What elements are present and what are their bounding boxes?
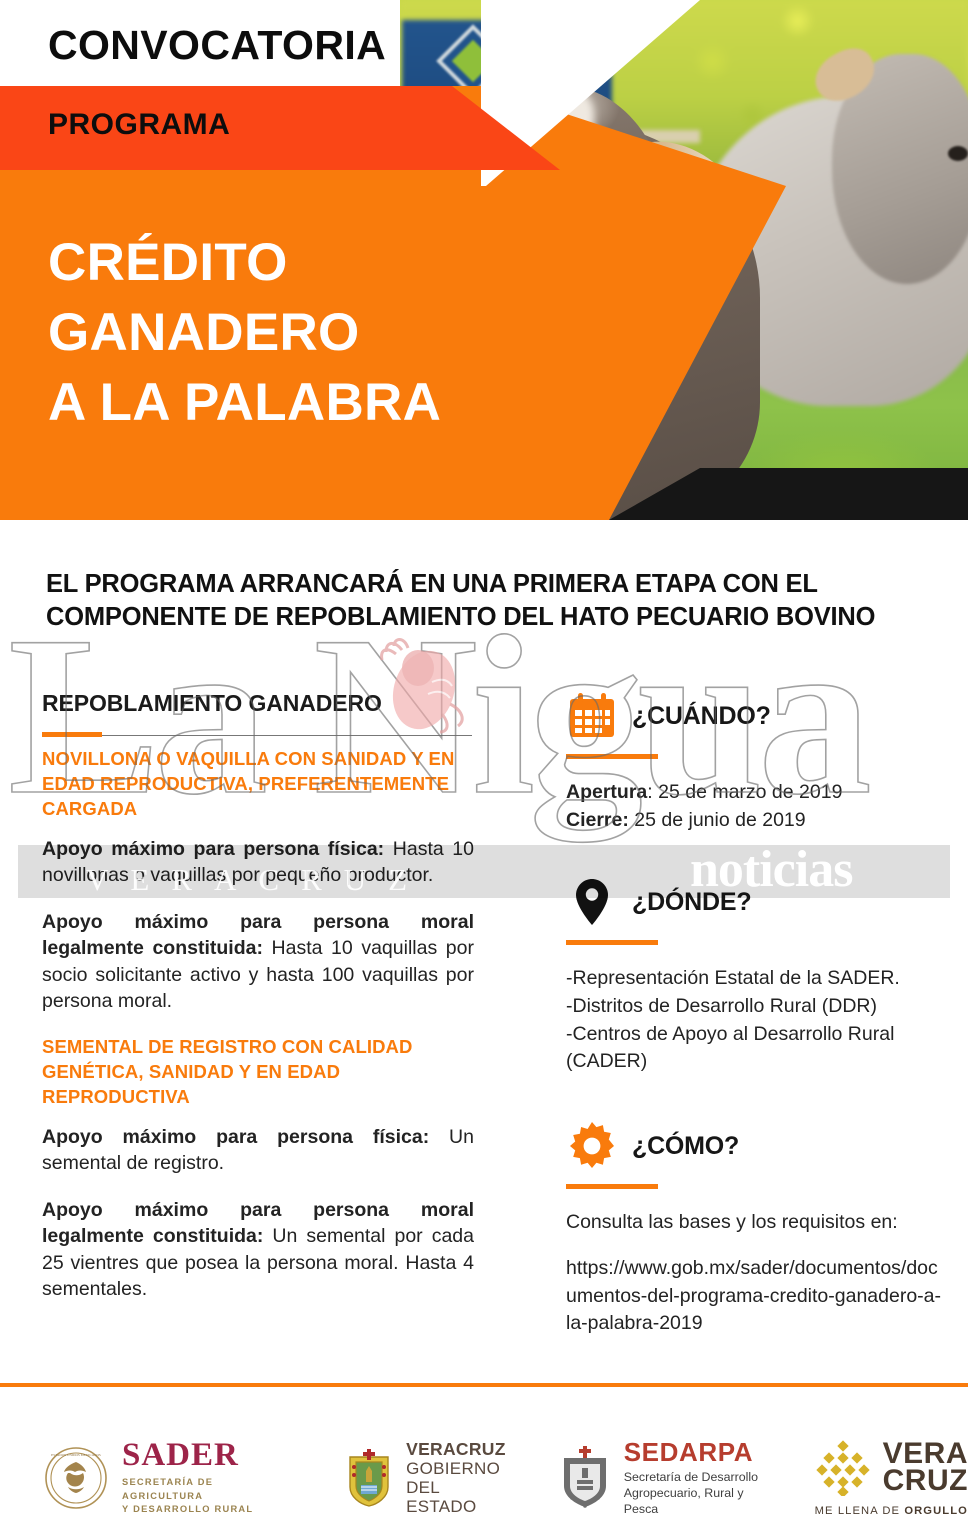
footer-logos: ESTADOS UNIDOS MEXICANOS SADER SECRETARÍ… xyxy=(0,1420,968,1536)
section-como-header: ¿CÓMO? xyxy=(566,1120,944,1172)
divider-accent xyxy=(42,732,102,737)
location-pin-icon xyxy=(566,876,618,928)
divider-line xyxy=(42,735,472,736)
section-como-body: Consulta las bases y los requisitos en: … xyxy=(566,1184,944,1338)
veracruz-gobierno-line-3: DEL ESTADO xyxy=(406,1478,506,1516)
sedarpa-text: SEDARPA Secretaría de Desarrollo Agropec… xyxy=(624,1439,767,1517)
veracruz-gobierno-logo: VERACRUZ GOBIERNO DEL ESTADO xyxy=(343,1440,506,1517)
paragraph-label: Apoyo máximo para persona física: xyxy=(42,838,384,860)
hero-title: CRÉDITO GANADERO A LA PALABRA xyxy=(48,228,441,438)
tagline-light: ME LLENA DE xyxy=(815,1505,905,1517)
paragraph-moral-novillona: Apoyo máximo para persona moral legalmen… xyxy=(42,909,474,1015)
sader-logo: ESTADOS UNIDOS MEXICANOS SADER SECRETARÍ… xyxy=(44,1439,281,1516)
veracruz-gobierno-line-2: GOBIERNO xyxy=(406,1459,506,1478)
section-como: ¿CÓMO? Consulta las bases y los requisit… xyxy=(566,1120,944,1338)
section-donde-title: ¿DÓNDE? xyxy=(632,888,751,917)
apertura-label: Apertura xyxy=(566,781,647,803)
sedarpa-shield-icon xyxy=(558,1446,612,1510)
second-cow-eye xyxy=(948,146,968,161)
right-column: ¿CUÁNDO? Apertura: 25 de marzo de 2019 C… xyxy=(566,690,944,1364)
sader-subtitle-line-1: SECRETARÍA DE AGRICULTURA xyxy=(122,1476,281,1503)
section-donde: ¿DÓNDE? -Representación Estatal de la SA… xyxy=(566,876,944,1076)
veracruz-orgullo-wordmark: VERA CRUZ xyxy=(883,1441,968,1494)
sader-text: SADER SECRETARÍA DE AGRICULTURA Y DESARR… xyxy=(122,1439,281,1516)
como-intro: Consulta las bases y los requisitos en: xyxy=(566,1209,944,1237)
sader-subtitle: SECRETARÍA DE AGRICULTURA Y DESARROLLO R… xyxy=(122,1476,281,1516)
gear-icon xyxy=(566,1120,618,1172)
sedarpa-subtitle-line-2: Agropecuario, Rural y Pesca xyxy=(624,1485,767,1517)
hero-title-line-3: A LA PALABRA xyxy=(48,368,441,438)
donde-item-2: -Distritos de Desarrollo Rural (DDR) xyxy=(566,993,944,1021)
footer-divider xyxy=(0,1383,968,1387)
hero-title-line-2: GANADERO xyxy=(48,298,441,368)
veracruz-orgullo-word-2: CRUZ xyxy=(883,1468,968,1494)
lead-paragraph: EL PROGRAMA ARRANCARÁ EN UNA PRIMERA ETA… xyxy=(46,568,936,634)
paragraph-fisica-semental: Apoyo máximo para persona física: Un sem… xyxy=(42,1124,474,1177)
veracruz-gobierno-line-1: VERACRUZ xyxy=(406,1440,506,1460)
veracruz-orgullo-tagline: ME LLENA DE ORGULLO xyxy=(815,1505,968,1517)
subheading-novillona: NOVILLONA O VAQUILLA CON SANIDAD Y EN ED… xyxy=(42,747,474,822)
cierre-value: 25 de junio de 2019 xyxy=(629,809,806,831)
left-column: REPOBLAMIENTO GANADERO NOVILLONA O VAQUI… xyxy=(42,690,474,1323)
section-cuando-body: Apertura: 25 de marzo de 2019 Cierre: 25… xyxy=(566,754,944,834)
sedarpa-subtitle-line-1: Secretaría de Desarrollo xyxy=(624,1469,767,1485)
tagline-bold: ORGULLO xyxy=(904,1505,968,1517)
apertura-value: : 25 de marzo de 2019 xyxy=(647,781,842,803)
sedarpa-logo: SEDARPA Secretaría de Desarrollo Agropec… xyxy=(558,1439,767,1517)
subheading-semental: SEMENTAL DE REGISTRO CON CALIDAD GENÉTIC… xyxy=(42,1035,474,1110)
convocatoria-heading: CONVOCATORIA xyxy=(48,22,386,69)
veracruz-coat-of-arms-icon xyxy=(343,1447,395,1509)
como-url[interactable]: https://www.gob.mx/sader/documentos/docu… xyxy=(566,1255,944,1338)
sedarpa-subtitle: Secretaría de Desarrollo Agropecuario, R… xyxy=(624,1469,767,1517)
hero-banner: PROGRAMA CONVOCATORIA CRÉDITO GANADERO A… xyxy=(0,0,968,550)
veracruz-orgullo-mark: VERA CRUZ xyxy=(815,1440,968,1496)
section-divider xyxy=(42,729,474,747)
sader-subtitle-line-2: Y DESARROLLO RURAL xyxy=(122,1503,281,1516)
section-donde-body: -Representación Estatal de la SADER. -Di… xyxy=(566,940,944,1076)
diamond-pattern-icon xyxy=(815,1440,871,1496)
section-cuando-header: ¿CUÁNDO? xyxy=(566,690,944,742)
hero-title-line-1: CRÉDITO xyxy=(48,228,441,298)
programa-label: PROGRAMA xyxy=(48,108,230,142)
section-title-repoblamiento: REPOBLAMIENTO GANADERO xyxy=(42,690,474,717)
section-como-title: ¿CÓMO? xyxy=(632,1132,739,1161)
section-cuando-title: ¿CUÁNDO? xyxy=(632,702,771,731)
sedarpa-name: SEDARPA xyxy=(624,1439,767,1465)
paragraph-fisica-novillona: Apoyo máximo para persona física: Hasta … xyxy=(42,836,474,889)
cierre-line: Cierre: 25 de junio de 2019 xyxy=(566,807,944,835)
accent-rule xyxy=(566,940,658,945)
donde-item-1: -Representación Estatal de la SADER. xyxy=(566,965,944,993)
paragraph-label: Apoyo máximo para persona física: xyxy=(42,1126,429,1148)
calendar-icon xyxy=(566,690,618,742)
section-cuando: ¿CUÁNDO? Apertura: 25 de marzo de 2019 C… xyxy=(566,690,944,834)
donde-item-3: -Centros de Apoyo al Desarrollo Rural (C… xyxy=(566,1021,944,1076)
accent-rule xyxy=(566,754,658,759)
paragraph-moral-semental: Apoyo máximo para persona moral legalmen… xyxy=(42,1197,474,1303)
svg-text:ESTADOS UNIDOS MEXICANOS: ESTADOS UNIDOS MEXICANOS xyxy=(51,1453,101,1457)
veracruz-orgullo-logo: VERA CRUZ ME LLENA DE ORGULLO xyxy=(815,1440,968,1517)
section-donde-header: ¿DÓNDE? xyxy=(566,876,944,928)
mexico-seal-icon: ESTADOS UNIDOS MEXICANOS xyxy=(44,1446,108,1510)
sader-name: SADER xyxy=(122,1439,281,1472)
cierre-label: Cierre: xyxy=(566,809,629,831)
apertura-line: Apertura: 25 de marzo de 2019 xyxy=(566,779,944,807)
accent-rule xyxy=(566,1184,658,1189)
veracruz-gobierno-text: VERACRUZ GOBIERNO DEL ESTADO xyxy=(406,1440,506,1517)
